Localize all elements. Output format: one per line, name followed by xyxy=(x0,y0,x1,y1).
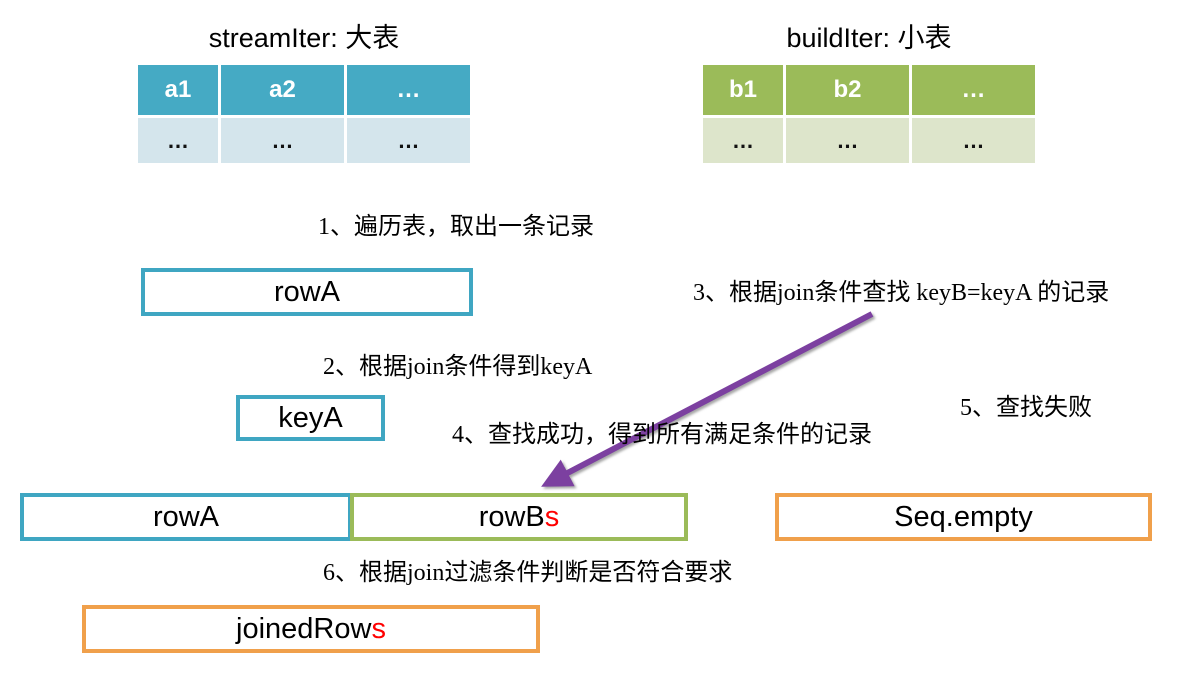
build-body-cell: … xyxy=(786,118,909,163)
rowa-bottom-label: rowA xyxy=(153,503,219,532)
keya-label: keyA xyxy=(278,404,342,433)
step-2-label: 2、根据join条件得到keyA xyxy=(323,352,592,382)
build-table-title: buildIter: 小表 xyxy=(703,22,1035,54)
stream-table: a1 a2 … … … … xyxy=(138,65,470,163)
build-body-cell: … xyxy=(912,118,1035,163)
step-6-label: 6、根据join过滤条件判断是否符合要求 xyxy=(323,558,732,588)
diagram-canvas: streamIter: 大表 buildIter: 小表 a1 a2 … … …… xyxy=(0,0,1194,696)
build-header-cell: b1 xyxy=(703,65,783,115)
build-table-row: … … … xyxy=(703,118,1035,163)
stream-header-cell: a1 xyxy=(138,65,218,115)
joined-rows-label: joinedRows xyxy=(236,615,386,644)
seq-empty-label: Seq.empty xyxy=(894,503,1033,532)
rowbs-box: rowBs xyxy=(350,493,688,541)
rowbs-label-prefix: rowB xyxy=(479,501,545,533)
keya-box: keyA xyxy=(236,395,385,441)
step-5-label: 5、查找失败 xyxy=(960,393,1092,423)
stream-table-header-row: a1 a2 … xyxy=(138,65,470,115)
joined-rows-box: joinedRows xyxy=(82,605,540,653)
stream-body-cell: … xyxy=(138,118,218,163)
step-4-label: 4、查找成功，得到所有满足条件的记录 xyxy=(452,420,872,450)
seq-empty-box: Seq.empty xyxy=(775,493,1152,541)
stream-body-cell: … xyxy=(221,118,344,163)
build-header-cell: … xyxy=(912,65,1035,115)
rowbs-label: rowBs xyxy=(479,503,560,532)
rowbs-label-suffix: s xyxy=(545,501,560,533)
stream-header-cell: a2 xyxy=(221,65,344,115)
rowa-bottom-box: rowA xyxy=(20,493,352,541)
joined-rows-label-suffix: s xyxy=(371,613,386,645)
stream-body-cell: … xyxy=(347,118,470,163)
stream-header-cell: … xyxy=(347,65,470,115)
build-body-cell: … xyxy=(703,118,783,163)
step-1-label: 1、遍历表，取出一条记录 xyxy=(318,212,594,242)
rowa-top-label: rowA xyxy=(274,278,340,307)
stream-table-row: … … … xyxy=(138,118,470,163)
arrow-step-4-diagonal xyxy=(556,314,872,479)
build-table: b1 b2 … … … … xyxy=(703,65,1035,163)
joined-rows-label-prefix: joinedRow xyxy=(236,613,371,645)
step-3-label: 3、根据join条件查找 keyB=keyA 的记录 xyxy=(693,278,1109,308)
stream-table-title: streamIter: 大表 xyxy=(138,22,470,54)
build-table-header-row: b1 b2 … xyxy=(703,65,1035,115)
rowa-top-box: rowA xyxy=(141,268,473,316)
build-header-cell: b2 xyxy=(786,65,909,115)
